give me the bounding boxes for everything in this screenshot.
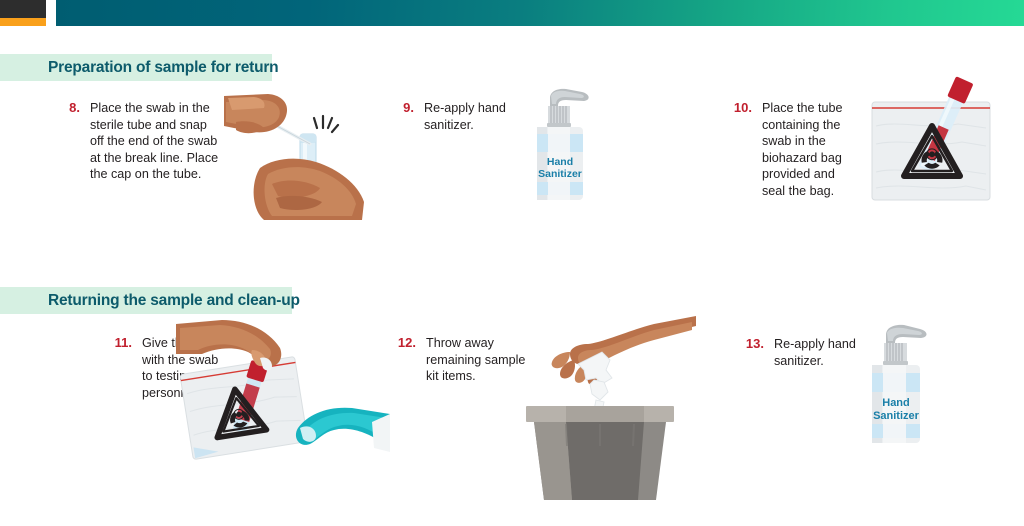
step-8-number: 8.	[58, 100, 80, 115]
section-header-returning: Returning the sample and clean-up	[0, 287, 292, 314]
sanitizer-label-line1: Hand	[882, 397, 910, 409]
step-12-number: 12.	[388, 335, 416, 350]
step-8-text: Place the swab in the sterile tube and s…	[90, 100, 222, 183]
sanitizer-label-line2: Sanitizer	[873, 410, 920, 422]
step-11-number: 11.	[104, 335, 132, 350]
banner-orange-strip	[0, 18, 46, 26]
sanitizer-label-line2: Sanitizer	[538, 168, 582, 180]
top-banner	[0, 0, 1024, 26]
biohazard-bag-with-tube-illustration	[866, 86, 998, 214]
section-title-returning: Returning the sample and clean-up	[48, 292, 300, 310]
hand-sanitizer-bottle-illustration-2: Hand Sanitizer	[858, 322, 934, 446]
step-9-number: 9.	[392, 100, 414, 115]
swab-into-tube-illustration	[224, 92, 384, 220]
section-title-preparation: Preparation of sample for return	[48, 59, 278, 77]
section-header-preparation: Preparation of sample for return	[0, 54, 272, 81]
step-10-text: Place the tube containing the swab in th…	[762, 100, 854, 200]
hand-sanitizer-bottle-illustration-1: Hand Sanitizer	[524, 86, 596, 202]
bag-handoff-illustration	[176, 318, 390, 462]
banner-dark-block	[0, 0, 46, 18]
banner-gradient-bar	[56, 0, 1024, 26]
trash-disposal-illustration	[504, 322, 696, 514]
step-13-number: 13.	[736, 336, 764, 351]
step-10-number: 10.	[724, 100, 752, 115]
sanitizer-label-line1: Hand	[547, 156, 573, 168]
